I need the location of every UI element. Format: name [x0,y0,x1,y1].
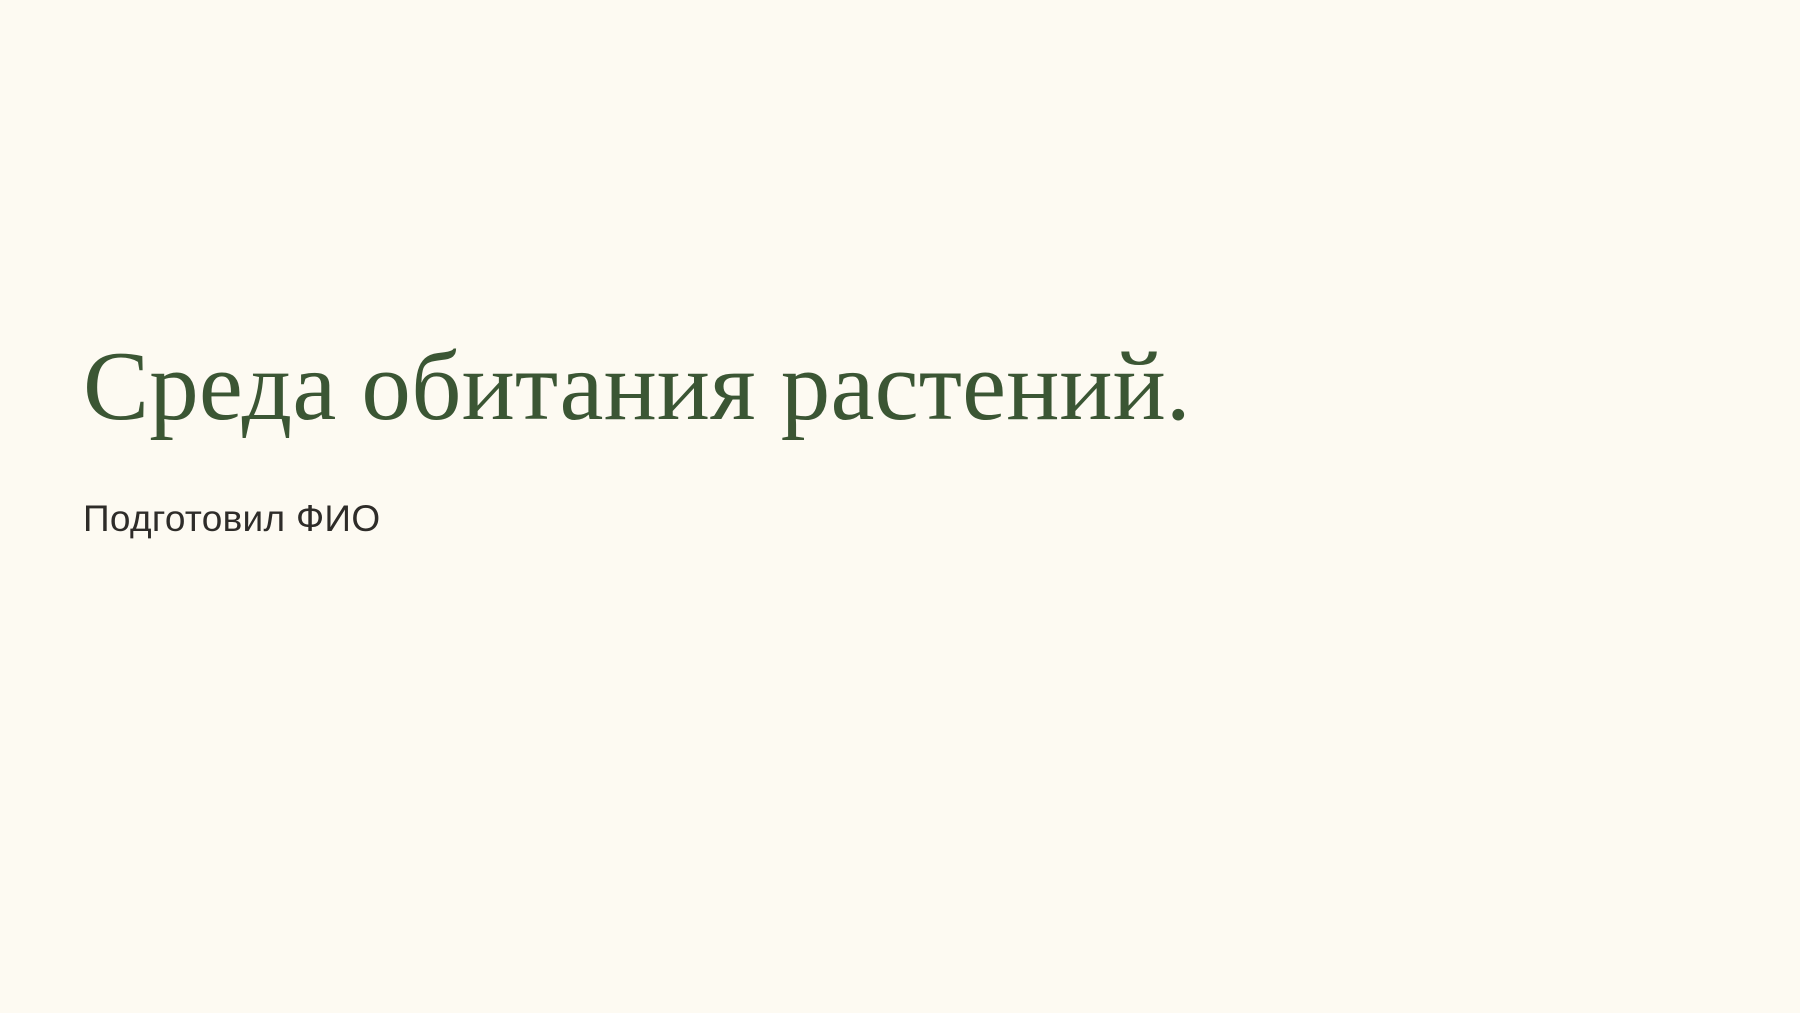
presentation-slide: Среда обитания растений. Подготовил ФИО [0,0,1800,1013]
slide-subtitle: Подготовил ФИО [83,495,1680,543]
slide-text-block: Среда обитания растений. Подготовил ФИО [83,330,1680,543]
page-title: Среда обитания растений. [83,330,1680,444]
